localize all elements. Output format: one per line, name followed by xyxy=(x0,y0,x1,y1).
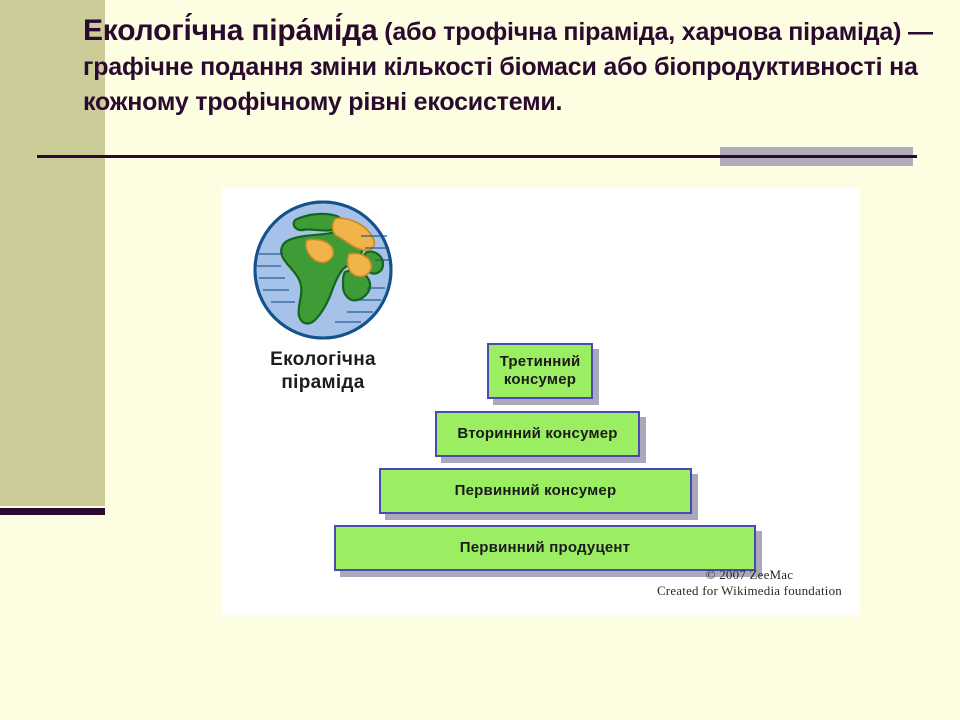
globe-block: Екологічна піраміда xyxy=(247,196,399,394)
pyramid-tier-tertiary-consumer: Третинний консумер xyxy=(487,343,593,399)
slide-canvas: Екологі́чна піра́мі́да (або трофічна пір… xyxy=(0,0,960,720)
globe-caption: Екологічна піраміда xyxy=(247,348,399,394)
globe-earth-icon xyxy=(249,196,397,344)
page-title: Екологі́чна піра́мі́да (або трофічна пір… xyxy=(83,14,935,119)
pyramid-tier-secondary-consumer: Вторинний консумер xyxy=(435,411,640,457)
decorative-left-band-cap xyxy=(0,508,105,515)
globe-caption-line-1: Екологічна xyxy=(247,348,399,371)
credit-line-1: © 2007 ZeeMac xyxy=(657,567,842,583)
decorative-horizontal-rule xyxy=(37,155,917,158)
pyramid-tier-primary-producer: Первинний продуцент xyxy=(334,525,756,571)
figure-credit: © 2007 ZeeMac Created for Wikimedia foun… xyxy=(657,567,842,599)
credit-line-2: Created for Wikimedia foundation xyxy=(657,583,842,599)
pyramid-tier-primary-consumer: Первинний консумер xyxy=(379,468,692,514)
globe-caption-line-2: піраміда xyxy=(247,371,399,394)
ecological-pyramid-figure: Екологічна піраміда Третинний консумер В… xyxy=(222,188,860,615)
title-lead: Екологі́чна піра́мі́да xyxy=(83,14,378,47)
